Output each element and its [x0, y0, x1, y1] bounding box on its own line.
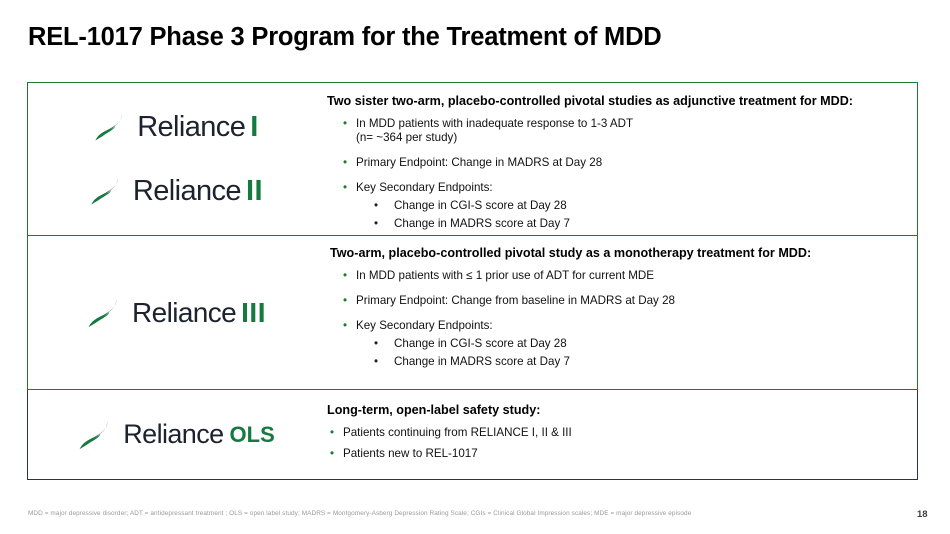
program-row-reliance-ols: Reliance OLS Long-term, open-label safet… — [27, 390, 918, 480]
reliance-leaf-swoosh-icon — [86, 171, 126, 211]
program-table: Reliance I Reliance II Two sister two-ar… — [27, 82, 918, 480]
list-item-text: Change in CGI-S score at Day 28 — [394, 199, 567, 212]
bullet-dot-icon: • — [343, 269, 347, 283]
logo-cell-reliance-ols: Reliance OLS — [28, 390, 321, 479]
program-row-reliance-iii: Reliance III Two-arm, placebo-controlled… — [27, 236, 918, 390]
list-item: • Primary Endpoint: Change from baseline… — [327, 294, 917, 308]
program-row-reliance-i-ii: Reliance I Reliance II Two sister two-ar… — [27, 82, 918, 236]
list-item: • Change in CGI-S score at Day 28 — [356, 337, 917, 351]
list-item: • Change in CGI-S score at Day 28 — [356, 199, 917, 213]
footnote-abbreviations: MDD = major depressive disorder; ADT = a… — [28, 510, 691, 517]
page-title: REL-1017 Phase 3 Program for the Treatme… — [28, 23, 662, 52]
list-item-text: Patients continuing from RELIANCE I, II … — [343, 426, 572, 439]
list-item-text: Change in MADRS score at Day 7 — [394, 355, 570, 368]
logo-wordmark: Reliance — [132, 297, 236, 329]
sub-bullet-list: • Change in CGI-S score at Day 28 • Chan… — [356, 199, 917, 231]
list-item-text: Change in MADRS score at Day 7 — [394, 217, 570, 230]
bullet-dot-icon: • — [374, 217, 378, 231]
bullet-list: • In MDD patients with ≤ 1 prior use of … — [327, 269, 917, 369]
list-item-text: Key Secondary Endpoints: — [356, 181, 493, 194]
list-item-text: Key Secondary Endpoints: — [356, 319, 493, 332]
bullet-list: • In MDD patients with inadequate respon… — [327, 117, 917, 231]
logo-wordmark: Reliance — [133, 175, 241, 208]
logo-wordmark: Reliance — [123, 419, 223, 450]
list-item-text: In MDD patients with inadequate response… — [356, 117, 633, 130]
list-item: • Primary Endpoint: Change in MADRS at D… — [327, 156, 917, 170]
logo-reliance-iii: Reliance III — [83, 292, 266, 334]
list-item: • Key Secondary Endpoints: • Change in C… — [327, 319, 917, 369]
list-item-subtext: (n= ~364 per study) — [356, 131, 917, 145]
bullet-dot-icon: • — [330, 447, 334, 461]
list-item: • Change in MADRS score at Day 7 — [356, 355, 917, 369]
content-cell-reliance-ols: Long-term, open-label safety study: • Pa… — [321, 390, 917, 479]
bullet-dot-icon: • — [343, 117, 347, 131]
bullet-dot-icon: • — [343, 319, 347, 333]
reliance-leaf-swoosh-icon — [90, 107, 130, 147]
row-heading: Two-arm, placebo-controlled pivotal stud… — [330, 246, 917, 260]
bullet-dot-icon: • — [374, 355, 378, 369]
logo-cell-reliance-i-ii: Reliance I Reliance II — [28, 83, 321, 235]
list-item: • Patients new to REL-1017 — [327, 447, 917, 461]
logo-numeral: I — [250, 111, 259, 144]
list-item: • Change in MADRS score at Day 7 — [356, 217, 917, 231]
bullet-dot-icon: • — [343, 181, 347, 195]
page-number: 18 — [917, 509, 928, 520]
bullet-dot-icon: • — [343, 294, 347, 308]
list-item: • In MDD patients with ≤ 1 prior use of … — [327, 269, 917, 283]
logo-numeral: III — [241, 297, 266, 329]
list-item-text: Primary Endpoint: Change in MADRS at Day… — [356, 156, 602, 169]
reliance-leaf-swoosh-icon — [74, 414, 116, 456]
content-cell-reliance-i-ii: Two sister two-arm, placebo-controlled p… — [321, 83, 917, 235]
bullet-dot-icon: • — [374, 199, 378, 213]
list-item: • In MDD patients with inadequate respon… — [327, 117, 917, 145]
list-item-text: Patients new to REL-1017 — [343, 447, 478, 460]
list-item-text: In MDD patients with ≤ 1 prior use of AD… — [356, 269, 654, 282]
logo-wordmark: Reliance — [137, 111, 245, 144]
bullet-list: • Patients continuing from RELIANCE I, I… — [327, 426, 917, 468]
row-heading: Long-term, open-label safety study: — [327, 403, 917, 417]
logo-reliance-ii: Reliance II — [86, 171, 263, 211]
sub-bullet-list: • Change in CGI-S score at Day 28 • Chan… — [356, 337, 917, 369]
reliance-leaf-swoosh-icon — [83, 292, 125, 334]
logo-reliance-i: Reliance I — [90, 107, 259, 147]
bullet-dot-icon: • — [330, 426, 334, 440]
list-item-text: Change in CGI-S score at Day 28 — [394, 337, 567, 350]
list-item: • Key Secondary Endpoints: • Change in C… — [327, 181, 917, 231]
bullet-dot-icon: • — [343, 156, 347, 170]
bullet-dot-icon: • — [374, 337, 378, 351]
logo-numeral: II — [246, 175, 263, 208]
content-cell-reliance-iii: Two-arm, placebo-controlled pivotal stud… — [321, 236, 917, 389]
logo-reliance-ols: Reliance OLS — [74, 414, 275, 456]
logo-cell-reliance-iii: Reliance III — [28, 236, 321, 389]
row-heading: Two sister two-arm, placebo-controlled p… — [327, 94, 917, 108]
list-item: • Patients continuing from RELIANCE I, I… — [327, 426, 917, 440]
list-item-text: Primary Endpoint: Change from baseline i… — [356, 294, 675, 307]
logo-suffix: OLS — [230, 422, 275, 448]
